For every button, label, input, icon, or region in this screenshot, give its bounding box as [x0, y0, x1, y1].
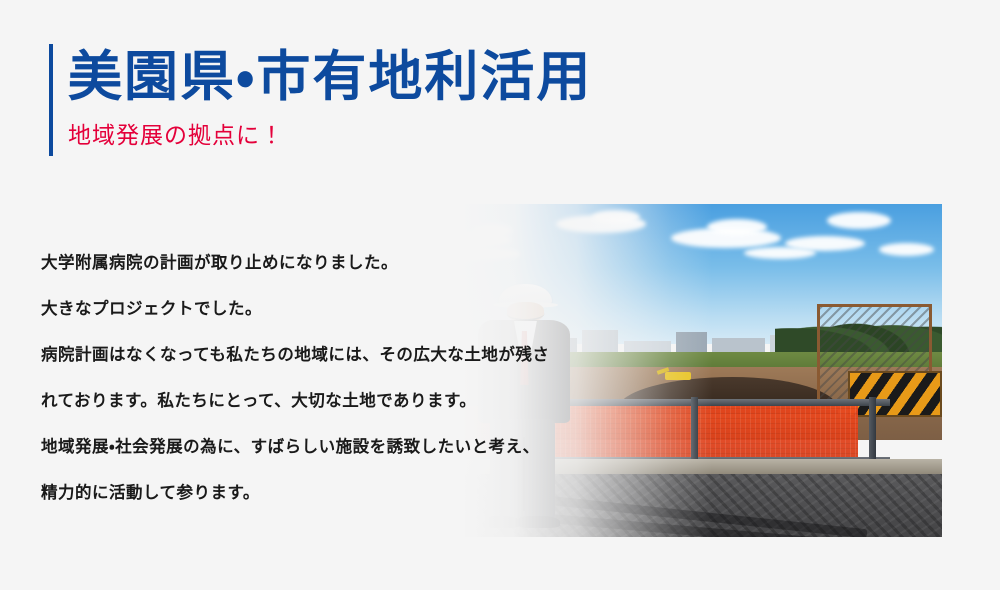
shoe-shape — [518, 516, 560, 528]
cloud-icon — [472, 224, 512, 238]
header-accent-bar — [49, 44, 53, 156]
page-root: 美園県・市有地利活用 地域発展の拠点に！ — [0, 0, 1000, 590]
body-line: れております。私たちにとって、大切な土地であります。 — [41, 378, 661, 424]
hazard-stripe-board — [848, 371, 942, 418]
body-line: 精力的に活動して参ります。 — [41, 470, 661, 516]
page-subtitle: 地域発展の拠点に！ — [68, 120, 592, 150]
fence-post — [691, 397, 698, 464]
page-title: 美園県・市有地利活用 — [68, 44, 592, 110]
cloud-icon — [592, 210, 640, 224]
cloud-icon — [827, 212, 891, 229]
excavator-icon — [665, 372, 691, 380]
shoe-shape — [485, 516, 520, 528]
body-copy: 大学附属病院の計画が取り止めになりました。 大きなプロジェクトでした。 病院計画… — [41, 240, 661, 516]
body-line: 大きなプロジェクトでした。 — [41, 286, 661, 332]
body-line: 大学附属病院の計画が取り止めになりました。 — [41, 240, 661, 286]
cloud-icon — [879, 243, 934, 256]
fence-post — [869, 397, 876, 464]
body-line: 地域発展・社会発展の為に、すばらしい施設を誘致したいと考え、 — [41, 424, 661, 470]
body-line: 病院計画はなくなっても私たちの地域には、その広大な土地が残さ — [41, 332, 661, 378]
cloud-icon — [744, 247, 816, 259]
page-header: 美園県・市有地利活用 地域発展の拠点に！ — [49, 44, 592, 156]
